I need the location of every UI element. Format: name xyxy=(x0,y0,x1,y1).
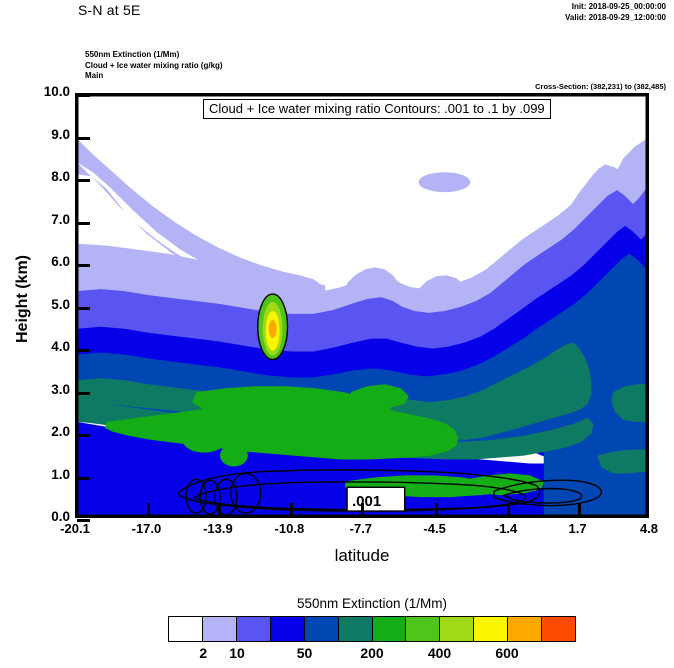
colorbar-cell xyxy=(169,617,203,641)
x-tick-label: -4.5 xyxy=(405,521,465,536)
x-tick-label: -20.1 xyxy=(45,521,105,536)
x-tick-mark xyxy=(147,503,150,516)
y-tick-label: 7.0 xyxy=(24,212,70,227)
colorbar-cell xyxy=(203,617,237,641)
field-contour-label: Cloud + Ice water mixing ratio (g/kg) xyxy=(85,61,223,72)
y-tick-label: 8.0 xyxy=(24,169,70,184)
page-title: S-N at 5E xyxy=(78,2,141,18)
y-tick-label: 1.0 xyxy=(24,467,70,482)
x-axis-labels: -20.1-17.0-13.9-10.8-7.7-4.5-1.41.74.8 xyxy=(75,521,649,541)
run-time-block: Init: 2018-09-25_00:00:00 Valid: 2018-09… xyxy=(565,1,666,23)
colorbar-cell xyxy=(406,617,440,641)
y-tick-label: 3.0 xyxy=(24,382,70,397)
plot-area: .001 xyxy=(75,93,649,518)
colorbar-cell xyxy=(373,617,407,641)
colorbar-cell xyxy=(237,617,271,641)
colorbar-tick-label: 200 xyxy=(352,645,392,661)
x-tick-label: -10.8 xyxy=(259,521,319,536)
colorbar-cell xyxy=(542,617,575,641)
x-tick-label: 1.7 xyxy=(548,521,608,536)
colorbar-cell xyxy=(271,617,305,641)
x-tick-label: -7.7 xyxy=(331,521,391,536)
x-tick-label: -13.9 xyxy=(188,521,248,536)
y-axis-title: Height (km) xyxy=(14,239,32,359)
field-description-block: 550nm Extinction (1/Mm) Cloud + Ice wate… xyxy=(85,50,223,82)
field-shaded-label: 550nm Extinction (1/Mm) xyxy=(85,50,223,61)
x-axis-title: latitude xyxy=(75,546,649,566)
colorbar-tick-label: 600 xyxy=(487,645,527,661)
x-tick-mark xyxy=(290,503,293,516)
cross-section-label: Cross-Section: (382,231) to (382,485) xyxy=(535,82,666,91)
x-tick-mark xyxy=(218,503,221,516)
colorbar xyxy=(168,616,576,642)
x-tick-label: -1.4 xyxy=(476,521,536,536)
colorbar-cell xyxy=(339,617,373,641)
x-tick-mark xyxy=(507,503,510,516)
y-tick-label: 2.0 xyxy=(24,424,70,439)
colorbar-tick-label: 10 xyxy=(217,645,257,661)
y-tick-label: 10.0 xyxy=(24,84,70,99)
colorbar-title: 550nm Extinction (1/Mm) xyxy=(167,596,577,611)
colorbar-cell xyxy=(305,617,339,641)
colorbar-tick-label: 50 xyxy=(285,645,325,661)
init-time-label: Init: 2018-09-25_00:00:00 xyxy=(565,1,666,12)
field-domain-label: Main xyxy=(85,71,223,82)
colorbar-cell xyxy=(508,617,542,641)
contour-title-banner: Cloud + Ice water mixing ratio Contours:… xyxy=(203,99,551,119)
x-axis-tickmarks xyxy=(77,95,647,516)
colorbar-labels: 21050200400600 xyxy=(168,645,576,667)
x-tick-mark xyxy=(435,503,438,516)
y-tick-label: 9.0 xyxy=(24,127,70,142)
x-tick-label: -17.0 xyxy=(116,521,176,536)
colorbar-cell xyxy=(440,617,474,641)
x-tick-label: 4.8 xyxy=(619,521,674,536)
colorbar-tick-label: 400 xyxy=(420,645,460,661)
x-tick-mark xyxy=(578,503,581,516)
contour-inline-label: .001 xyxy=(352,493,381,510)
valid-time-label: Valid: 2018-09-29_12:00:00 xyxy=(565,12,666,23)
colorbar-cell xyxy=(474,617,508,641)
